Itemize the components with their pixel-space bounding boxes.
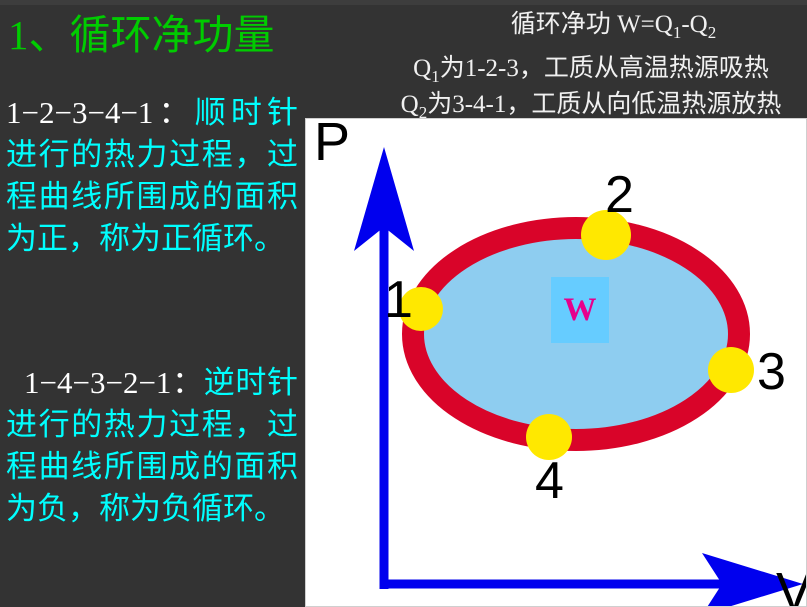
net-work-label: W — [564, 294, 597, 327]
p-axis-label: P — [314, 118, 350, 169]
net-work-formula-title: 循环净功 W=Q1-Q2 — [420, 4, 807, 43]
state-point-3 — [708, 347, 754, 393]
p-axis-group — [354, 147, 414, 589]
q2-description: 为3-4-1，工质从向低温热源放热 — [427, 91, 781, 118]
state-label-3: 3 — [757, 346, 786, 398]
q2-symbol: Q — [401, 91, 419, 118]
v-axis-group — [380, 553, 803, 607]
heat-transfer-explanation: Q1为1-2-3，工质从高温热源吸热 Q2为3-4-1，工质从向低温热源放热 — [375, 52, 807, 125]
slide-canvas: 1、循环净功量 1−2−3−4−1：顺时针进行的热力过程，过程曲线所围成的面积为… — [0, 0, 807, 607]
formula-title-mid: -Q — [681, 11, 707, 38]
v-axis-label: V — [776, 565, 807, 607]
reverse-cycle-paragraph: 1−4−3−2−1：逆时针进行的热力过程，过程曲线所围成的面积为负，称为负循环。 — [6, 362, 298, 531]
formula-title-sub2: 2 — [708, 23, 717, 42]
formula-title-prefix: 循环净功 — [511, 11, 617, 38]
state-label-2: 2 — [605, 169, 634, 221]
forward-cycle-sequence: 1−2−3−4−1： — [6, 95, 195, 130]
state-label-1: 1 — [384, 274, 413, 326]
q1-explanation-line: Q1为1-2-3，工质从高温热源吸热 — [375, 52, 807, 88]
reverse-cycle-sequence: 1−4−3−2−1： — [24, 365, 204, 400]
forward-cycle-paragraph: 1−2−3−4−1：顺时针进行的热力过程，过程曲线所围成的面积为正，称为正循环。 — [6, 92, 298, 261]
q1-symbol: Q — [413, 55, 431, 82]
state-label-4: 4 — [535, 455, 564, 507]
pv-diagram-panel: P V 1 2 3 4 W — [305, 118, 807, 607]
q1-description: 为1-2-3，工质从高温热源吸热 — [440, 55, 769, 82]
q1-subscript: 1 — [431, 67, 440, 86]
page-title: 1、循环净功量 — [8, 14, 308, 57]
formula-title-w: W=Q — [617, 11, 673, 38]
net-work-area-box: W — [551, 277, 609, 343]
pv-diagram-graphic — [306, 119, 807, 607]
